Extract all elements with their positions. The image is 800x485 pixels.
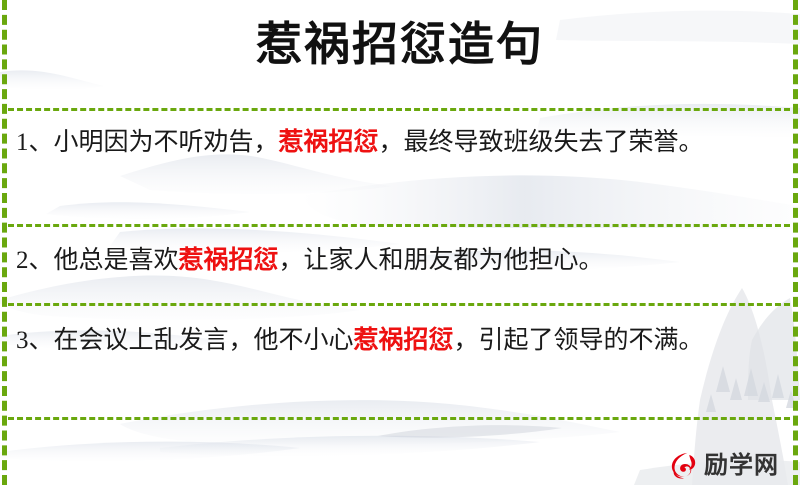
logo-wordmark: 励学网: [704, 453, 779, 479]
divider-1: [8, 108, 790, 111]
divider-2: [8, 224, 790, 227]
sentence-item-1: 1、小明因为不听劝告，惹祸招愆，最终导致班级失去了荣誉。: [16, 122, 780, 164]
page-title: 惹祸招愆造句: [0, 14, 800, 76]
sentence-1-number: 1、: [16, 129, 54, 156]
sentence-3-number: 3、: [16, 327, 54, 354]
divider-4: [8, 417, 790, 420]
sentence-item-3: 3、在会议上乱发言，他不小心惹祸招愆，引起了领导的不满。: [16, 320, 780, 362]
sentence-item-2: 2、他总是喜欢惹祸招愆，让家人和朋友都为他担心。: [16, 240, 780, 282]
sentence-1-keyword: 惹祸招愆: [279, 129, 379, 156]
sentence-2-text-before: 他总是喜欢: [54, 247, 179, 274]
sentence-2-text-after: ，让家人和朋友都为他担心。: [279, 247, 604, 274]
sentence-1-text-after: ，最终导致班级失去了荣誉。: [379, 129, 704, 156]
site-logo[interactable]: 励学网: [668, 449, 792, 482]
sentence-3-text-before: 在会议上乱发言，他不小心: [54, 327, 354, 354]
divider-3: [8, 303, 790, 306]
sentence-3-text-after: ，引起了领导的不满。: [454, 327, 704, 354]
red-swirl-flame-icon: [668, 450, 699, 481]
sentence-2-keyword: 惹祸招愆: [179, 247, 279, 274]
sentence-example-page: 惹祸招愆造句 1、小明因为不听劝告，惹祸招愆，最终导致班级失去了荣誉。 2、他总…: [0, 0, 800, 485]
sentence-1-text-before: 小明因为不听劝告，: [54, 129, 279, 156]
sentence-2-number: 2、: [16, 247, 54, 274]
sentence-3-keyword: 惹祸招愆: [354, 327, 454, 354]
